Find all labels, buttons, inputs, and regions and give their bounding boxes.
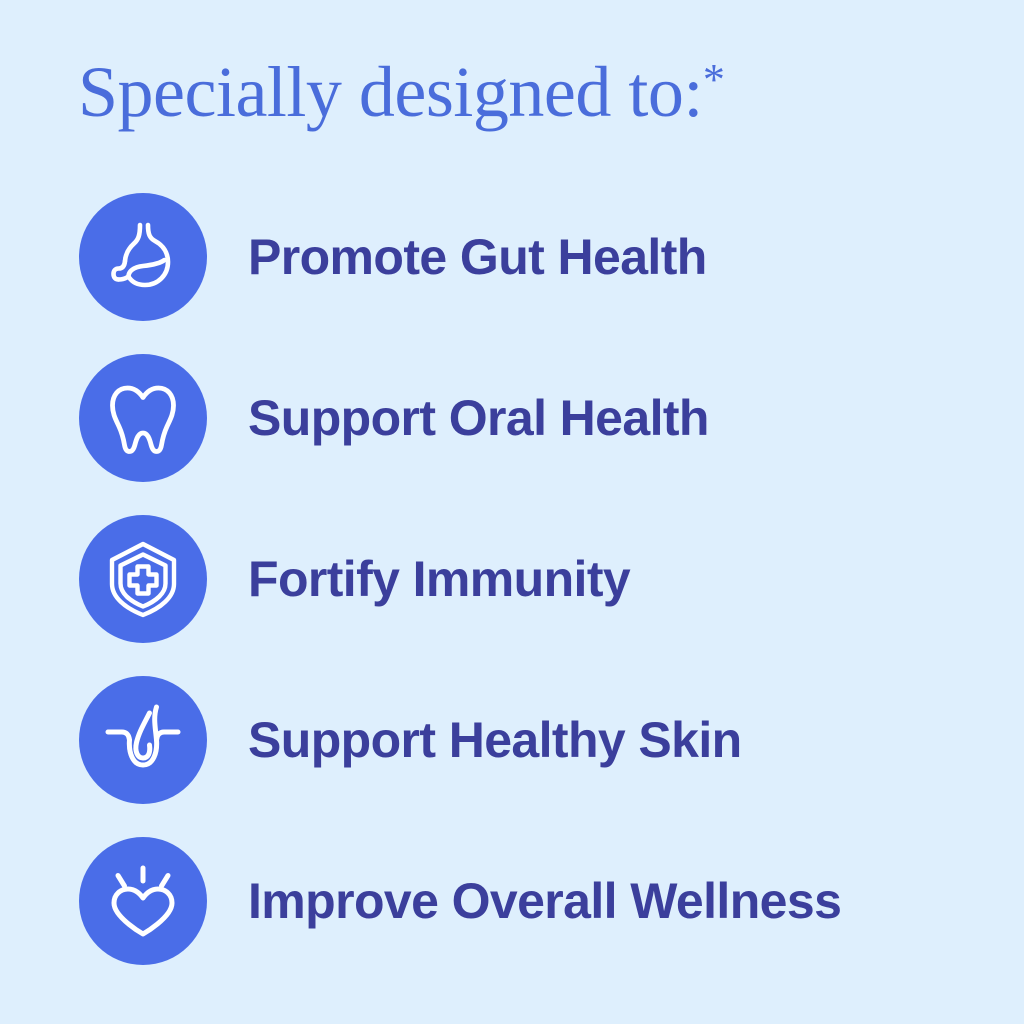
page-title: Specially designed to:* xyxy=(78,56,725,128)
shield-plus-icon xyxy=(105,539,181,619)
benefit-icon-badge xyxy=(79,676,207,804)
list-item: Promote Gut Health xyxy=(0,193,1024,321)
benefits-list: Promote Gut Health Support Oral Health F… xyxy=(0,193,1024,998)
tooth-icon xyxy=(106,380,180,456)
page-title-text: Specially designed to: xyxy=(78,52,703,132)
hair-follicle-icon xyxy=(103,699,183,781)
list-item: Improve Overall Wellness xyxy=(0,837,1024,965)
benefit-label: Support Healthy Skin xyxy=(248,714,742,767)
benefit-icon-badge xyxy=(79,837,207,965)
benefit-icon-badge xyxy=(79,515,207,643)
benefit-label: Improve Overall Wellness xyxy=(248,875,841,928)
list-item: Fortify Immunity xyxy=(0,515,1024,643)
benefits-panel: Specially designed to:* Promote Gut Heal… xyxy=(0,0,1024,1024)
benefit-icon-badge xyxy=(79,193,207,321)
stomach-icon xyxy=(104,218,182,296)
benefit-icon-badge xyxy=(79,354,207,482)
list-item: Support Oral Health xyxy=(0,354,1024,482)
footnote-asterisk: * xyxy=(703,55,725,104)
benefit-label: Fortify Immunity xyxy=(248,553,630,606)
list-item: Support Healthy Skin xyxy=(0,676,1024,804)
benefit-label: Support Oral Health xyxy=(248,392,709,445)
benefit-label: Promote Gut Health xyxy=(248,231,707,284)
shining-heart-icon xyxy=(104,862,182,940)
